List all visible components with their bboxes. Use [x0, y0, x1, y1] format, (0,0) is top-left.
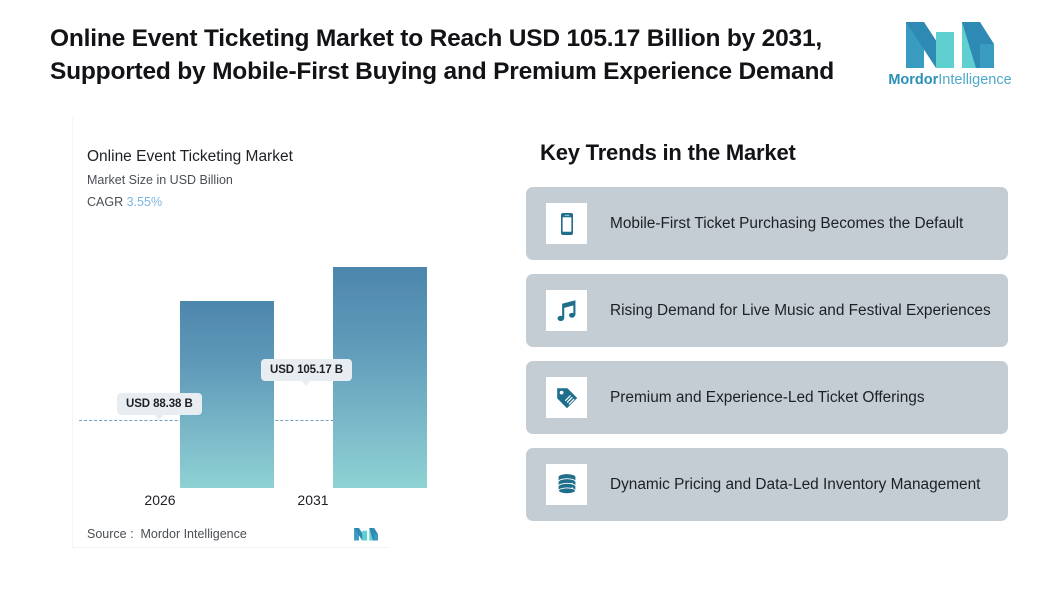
key-trends-heading: Key Trends in the Market: [540, 140, 1008, 166]
trend-card[interactable]: Rising Demand for Live Music and Festiva…: [526, 274, 1008, 347]
brand-word-bold: Mordor: [888, 72, 938, 88]
trend-text: Premium and Experience-Led Ticket Offeri…: [610, 387, 925, 409]
bar-value-label-2026: USD 88.38 B: [117, 393, 202, 415]
trend-card[interactable]: Mobile-First Ticket Purchasing Becomes t…: [526, 187, 1008, 260]
brand-word-light: Intelligence: [938, 72, 1011, 88]
page-title: Online Event Ticketing Market to Reach U…: [50, 22, 865, 88]
database-icon: [546, 464, 587, 505]
x-axis-label-2031: 2031: [266, 492, 360, 508]
chart-source-text: Source : Mordor Intelligence: [87, 527, 247, 541]
chart-plot-area: USD 88.38 B USD 105.17 B: [73, 238, 391, 488]
cagr-label: CAGR: [87, 195, 123, 209]
mordor-logo-mark: [902, 18, 998, 70]
brand-logo: MordorIntelligence: [880, 18, 1020, 96]
chart-source-row: Source : Mordor Intelligence: [87, 526, 379, 542]
source-name: Mordor Intelligence: [141, 527, 247, 541]
x-axis-label-2026: 2026: [113, 492, 207, 508]
trend-text: Rising Demand for Live Music and Festiva…: [610, 300, 991, 322]
market-size-chart: Online Event Ticketing Market Market Siz…: [72, 118, 390, 548]
price-tag-icon: [546, 377, 587, 418]
chart-subtitle: Market Size in USD Billion: [87, 173, 233, 187]
key-trends-panel: Key Trends in the Market Mobile-First Ti…: [526, 140, 1008, 535]
brand-wordmark: MordorIntelligence: [888, 72, 1011, 88]
page-header: Online Event Ticketing Market to Reach U…: [0, 0, 1058, 112]
trend-text: Dynamic Pricing and Data-Led Inventory M…: [610, 474, 980, 496]
chart-title: Online Event Ticketing Market: [87, 148, 293, 166]
music-note-icon: [546, 290, 587, 331]
mobile-phone-icon: [546, 203, 587, 244]
bar-value-label-2031: USD 105.17 B: [261, 359, 352, 381]
trend-text: Mobile-First Ticket Purchasing Becomes t…: [610, 213, 963, 235]
mordor-logo-mark-small: [353, 526, 379, 542]
source-label: Source :: [87, 527, 134, 541]
trend-card[interactable]: Dynamic Pricing and Data-Led Inventory M…: [526, 448, 1008, 521]
cagr-value: 3.55%: [127, 195, 162, 209]
trend-card[interactable]: Premium and Experience-Led Ticket Offeri…: [526, 361, 1008, 434]
chart-cagr: CAGR 3.55%: [87, 195, 162, 209]
